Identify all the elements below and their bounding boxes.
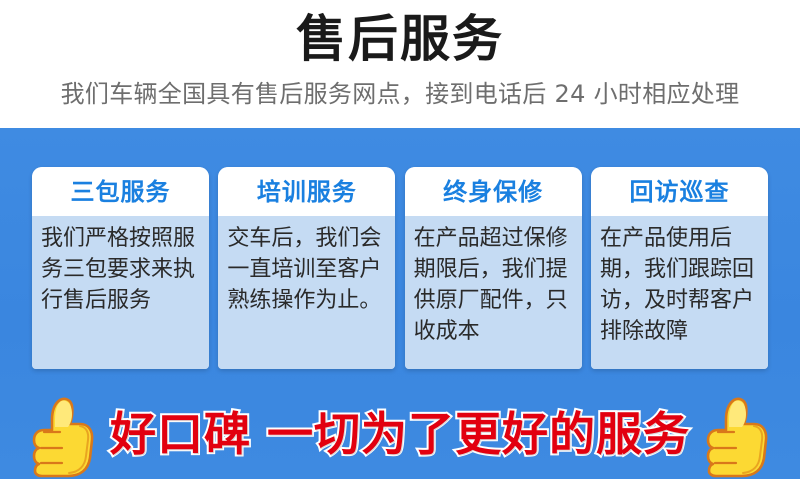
service-card-text: 我们严格按照服务三包要求来执行售后服务: [41, 223, 200, 316]
service-card-body: 我们严格按照服务三包要求来执行售后服务: [32, 216, 209, 369]
slogan-left: 好口碑: [110, 407, 251, 461]
service-card-header: 三包服务: [32, 167, 209, 216]
page-title: 售后服务: [0, 0, 800, 70]
service-card-title: 三包服务: [71, 179, 171, 205]
service-card-header: 终身保修: [405, 167, 582, 216]
header-section: 售后服务 我们车辆全国具有售后服务网点，接到电话后 24 小时相应处理: [0, 0, 800, 128]
service-card-body: 交车后，我们会一直培训至客户熟练操作为止。: [218, 216, 395, 369]
promo-banner-page: 售后服务 我们车辆全国具有售后服务网点，接到电话后 24 小时相应处理 三包服务…: [0, 0, 800, 479]
slogan-right: 一切为了更好的服务: [267, 407, 690, 461]
service-card-header: 回访巡查: [591, 167, 768, 216]
page-subtitle: 我们车辆全国具有售后服务网点，接到电话后 24 小时相应处理: [0, 70, 800, 109]
thumbs-up-icon: [698, 390, 776, 478]
slogan-text-group: 好口碑一切为了更好的服务: [102, 405, 698, 463]
service-card[interactable]: 三包服务 我们严格按照服务三包要求来执行售后服务: [32, 167, 209, 369]
service-card-text: 在产品超过保修期限后，我们提供原厂配件，只收成本: [414, 223, 573, 347]
service-card-body: 在产品使用后期，我们跟踪回访，及时帮客户排除故障: [591, 216, 768, 369]
slogan-banner: 好口碑一切为了更好的服务: [0, 388, 800, 479]
service-card[interactable]: 回访巡查 在产品使用后期，我们跟踪回访，及时帮客户排除故障: [591, 167, 768, 369]
thumbs-up-icon: [24, 390, 102, 478]
service-card-title: 培训服务: [257, 179, 357, 205]
service-card-title: 回访巡查: [629, 179, 729, 205]
service-cards-row: 三包服务 我们严格按照服务三包要求来执行售后服务 培训服务 交车后，我们会一直培…: [32, 167, 768, 369]
service-card-text: 在产品使用后期，我们跟踪回访，及时帮客户排除故障: [600, 223, 759, 347]
service-card-title: 终身保修: [443, 179, 543, 205]
service-card[interactable]: 培训服务 交车后，我们会一直培训至客户熟练操作为止。: [218, 167, 395, 369]
service-card-body: 在产品超过保修期限后，我们提供原厂配件，只收成本: [405, 216, 582, 369]
service-card-header: 培训服务: [218, 167, 395, 216]
blue-content-area: 三包服务 我们严格按照服务三包要求来执行售后服务 培训服务 交车后，我们会一直培…: [0, 128, 800, 479]
service-card-text: 交车后，我们会一直培训至客户熟练操作为止。: [227, 223, 386, 316]
service-card[interactable]: 终身保修 在产品超过保修期限后，我们提供原厂配件，只收成本: [405, 167, 582, 369]
